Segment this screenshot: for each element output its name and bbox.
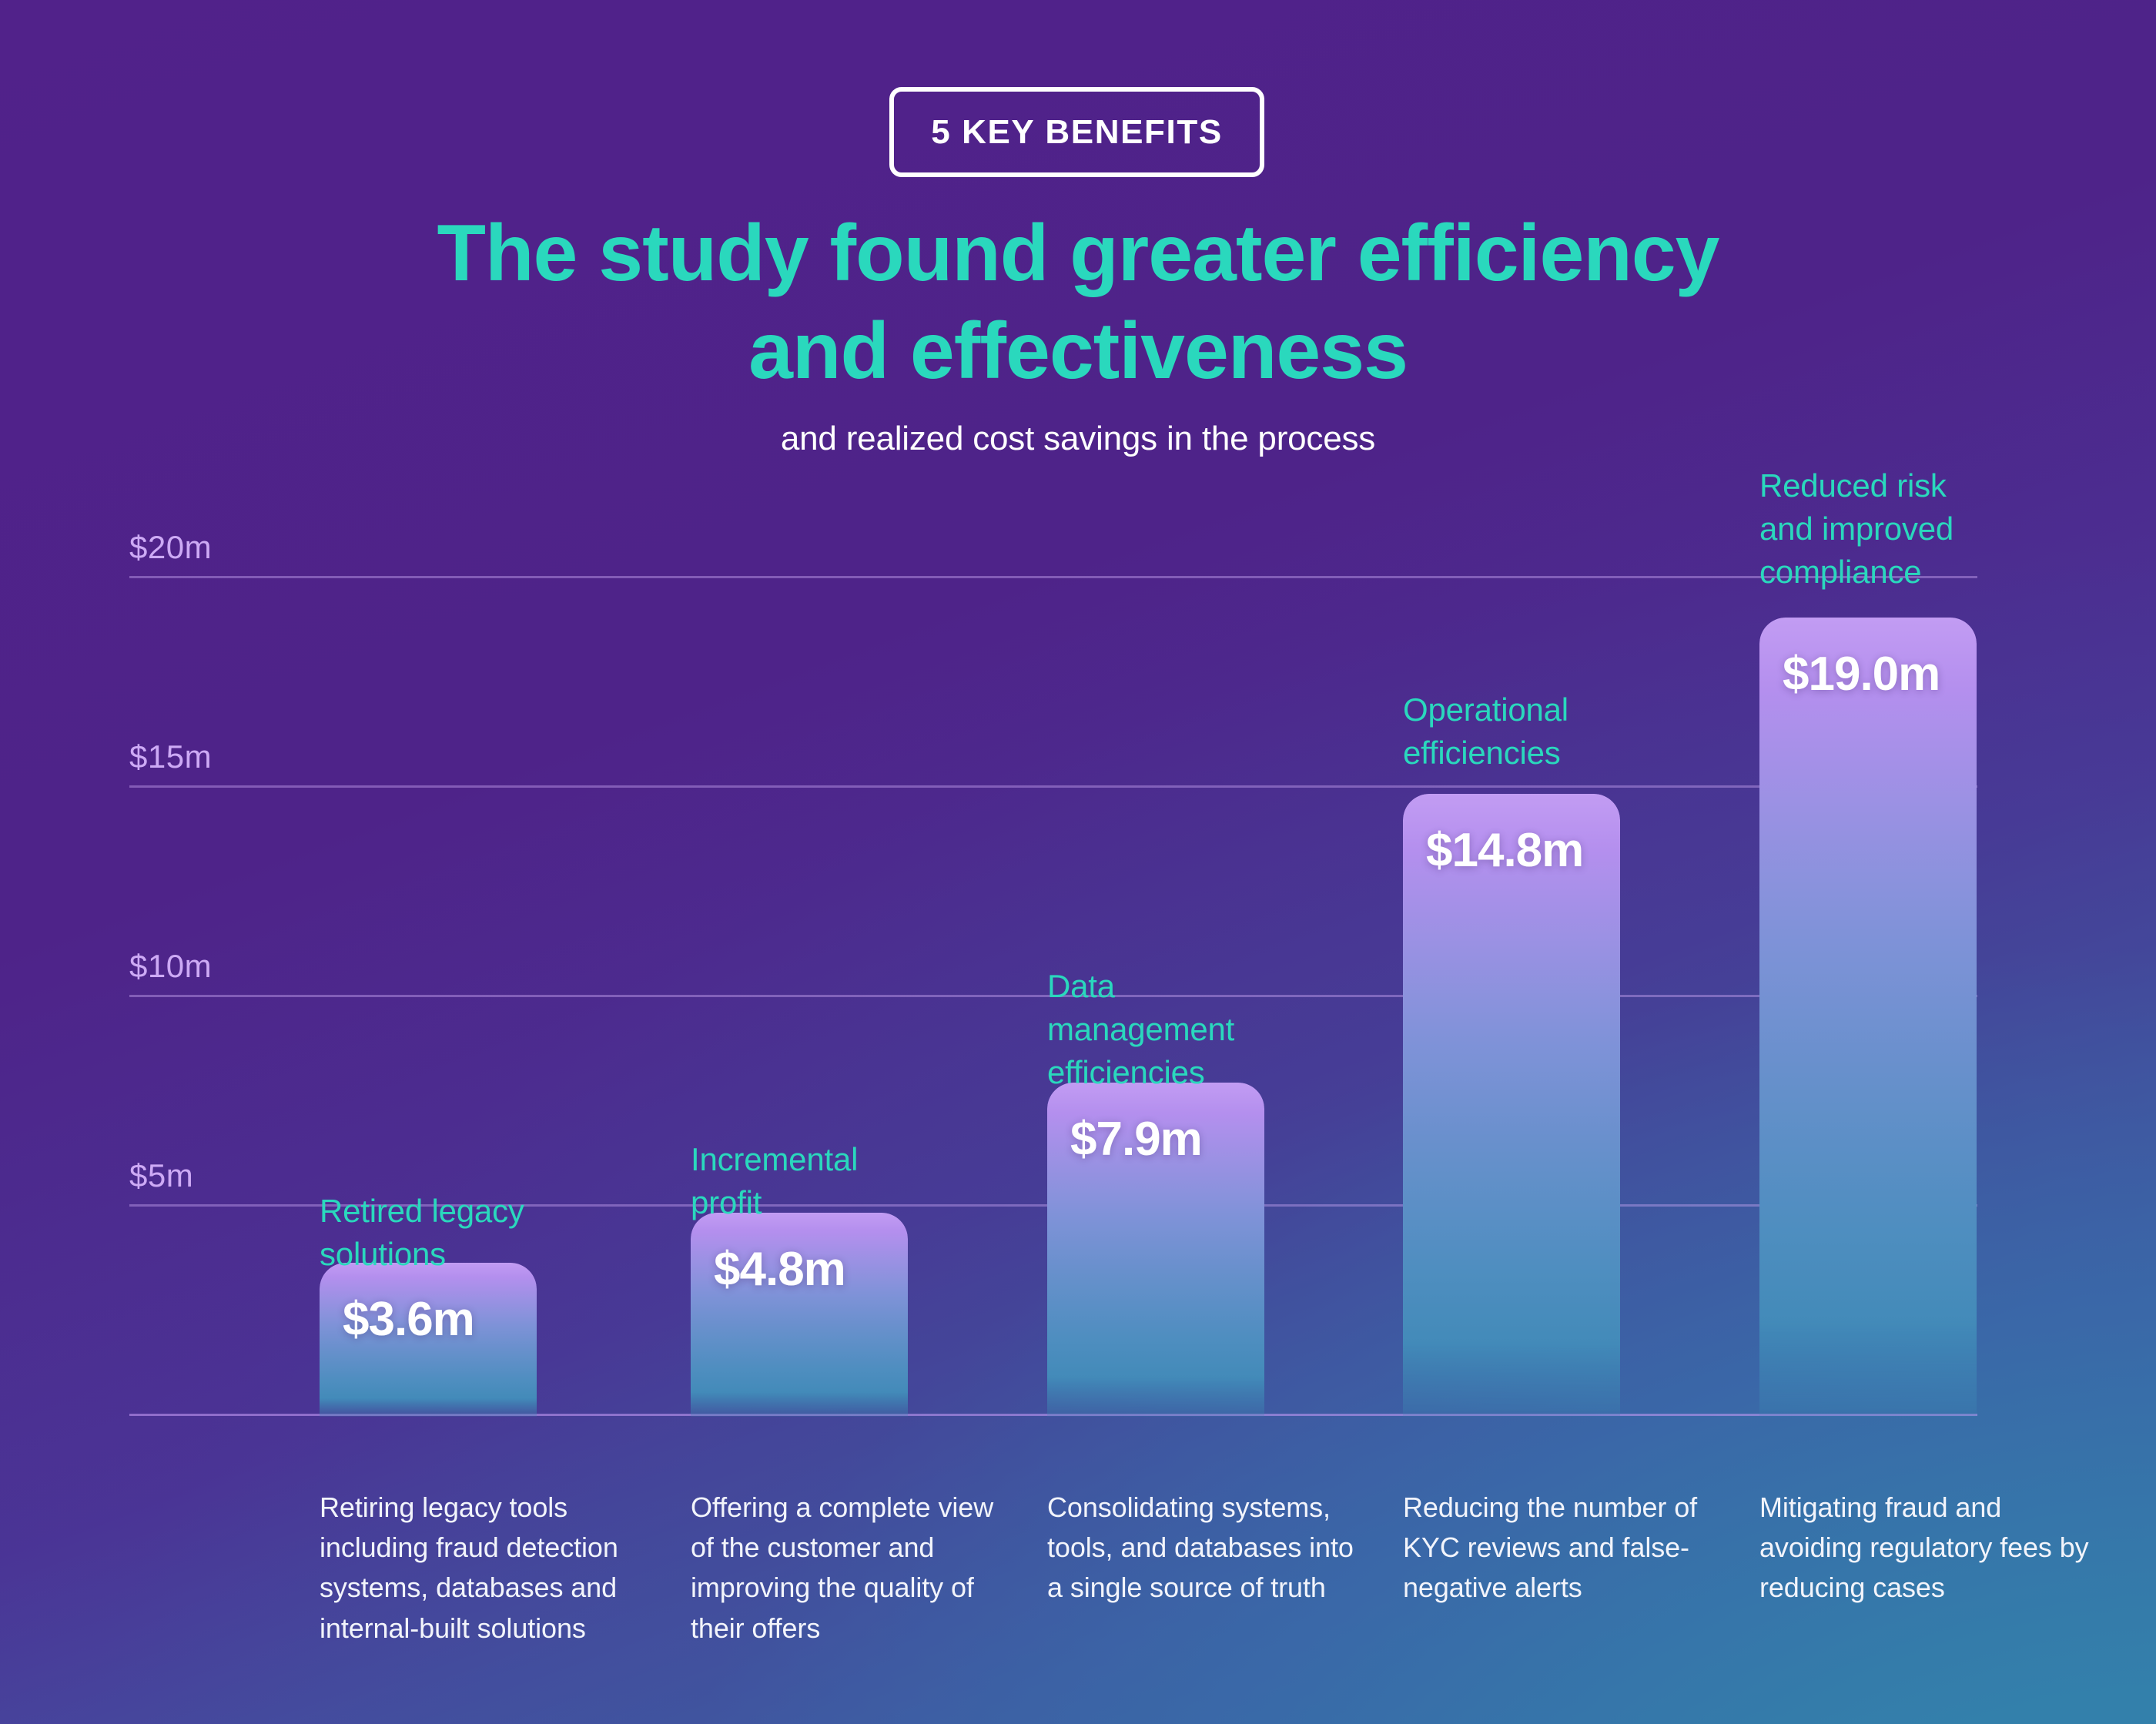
bar-value-label: $14.8m	[1426, 823, 1583, 878]
bar-description-data-management-efficiencies: Consolidating systems, tools, and databa…	[1047, 1488, 1371, 1609]
bar-chart: $20m $15m $10m $5m $3.6m Retired legacy …	[0, 0, 2156, 1724]
bar-value-label: $4.8m	[714, 1242, 845, 1297]
y-axis-tick-5m: $5m	[129, 1157, 193, 1194]
bar-operational-efficiencies[interactable]: $14.8m	[1403, 794, 1620, 1417]
bar-category-reduced-risk-and-improved-compliance: Reduced risk and improved compliance	[1759, 464, 2083, 594]
y-axis-tick-15m: $15m	[129, 738, 212, 775]
category-line-1: Operational	[1403, 688, 1726, 731]
bar-value-label: $19.0m	[1783, 647, 1940, 701]
bar-incremental-profit[interactable]: $4.8m	[691, 1213, 908, 1417]
bar-category-retired-legacy-solutions: Retired legacy solutions	[320, 1190, 643, 1276]
bar-reduced-risk-and-improved-compliance[interactable]: $19.0m	[1759, 618, 1977, 1417]
gridline-20m	[129, 576, 1977, 578]
bar-description-incremental-profit: Offering a complete view of the customer…	[691, 1488, 1014, 1649]
y-axis-tick-10m: $10m	[129, 948, 212, 985]
bar-category-operational-efficiencies: Operational efficiencies	[1403, 688, 1726, 775]
y-axis-tick-20m: $20m	[129, 529, 212, 566]
category-line-2: profit	[691, 1181, 1014, 1224]
bar-value-label: $7.9m	[1070, 1112, 1202, 1167]
bar-category-incremental-profit: Incremental profit	[691, 1138, 1014, 1224]
category-line-3: efficiencies	[1047, 1051, 1371, 1094]
category-line-1: Data	[1047, 965, 1371, 1008]
bar-category-data-management-efficiencies: Data management efficiencies	[1047, 965, 1371, 1094]
bar-description-reduced-risk-and-improved-compliance: Mitigating fraud and avoiding regulatory…	[1759, 1488, 2098, 1609]
bar-retired-legacy-solutions[interactable]: $3.6m	[320, 1263, 537, 1417]
category-line-1: Reduced risk	[1759, 464, 2083, 507]
category-line-2: efficiencies	[1403, 731, 1726, 775]
category-line-2: solutions	[320, 1233, 643, 1276]
category-line-1: Retired legacy	[320, 1190, 643, 1233]
category-line-3: compliance	[1759, 551, 2083, 594]
bar-description-operational-efficiencies: Reducing the number of KYC reviews and f…	[1403, 1488, 1726, 1609]
category-line-2: management	[1047, 1008, 1371, 1051]
category-line-1: Incremental	[691, 1138, 1014, 1181]
gridline-15m	[129, 785, 1977, 788]
bar-data-management-efficiencies[interactable]: $7.9m	[1047, 1083, 1264, 1417]
bar-description-retired-legacy-solutions: Retiring legacy tools including fraud de…	[320, 1488, 643, 1649]
category-line-2: and improved	[1759, 507, 2083, 551]
bar-value-label: $3.6m	[343, 1292, 474, 1347]
bar-fill	[1403, 794, 1620, 1417]
bar-fill	[1759, 618, 1977, 1417]
infographic-canvas: 5 KEY BENEFITS The study found greater e…	[0, 0, 2156, 1724]
